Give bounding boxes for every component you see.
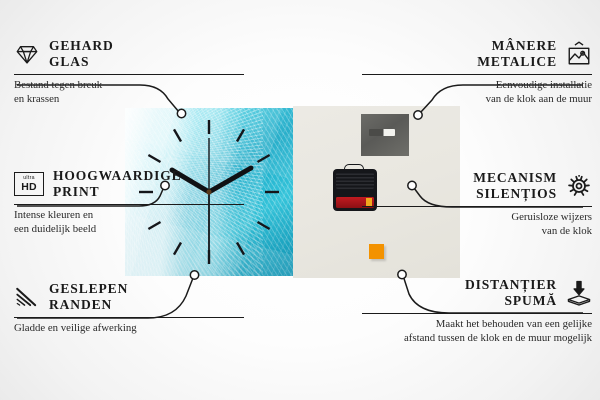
feature-desc: Bestand tegen breuk en krassen	[14, 79, 244, 107]
feature-desc: Geruisloze wijzers van de klok	[362, 211, 592, 239]
feature-title: HOOGWAARDIGE PRINT	[53, 168, 182, 201]
foam-spacer	[369, 244, 384, 259]
feature-desc: Gladde en veilige afwerking	[14, 322, 244, 336]
metal-hanger-plate	[361, 114, 409, 156]
feature-header: MECANISM SILENȚIOS	[362, 170, 592, 207]
ultra-hd-icon: ultra HD	[14, 172, 44, 196]
mechanism-bridge	[344, 164, 364, 171]
feature-gehard-glas: GEHARD GLAS Bestand tegen breuk en krass…	[14, 38, 244, 107]
feature-distantier-spuma: DISTANȚIER SPUMĂ Maakt het behouden van …	[362, 277, 592, 346]
ultra-hd-icon-bottom: HD	[21, 182, 37, 193]
feature-header: GESLEPEN RANDEN	[14, 281, 244, 318]
foam-spacer-icon	[566, 280, 592, 306]
feature-title: DISTANȚIER SPUMĂ	[465, 277, 557, 310]
beveled-edges-icon	[14, 284, 40, 310]
feature-header: MÂNERE METALICE	[362, 38, 592, 75]
picture-hanger-icon	[566, 41, 592, 67]
feature-hoogwaardige-print: ultra HD HOOGWAARDIGE PRINT Intense kleu…	[14, 168, 244, 237]
hanger-slot	[369, 129, 395, 136]
infographic-stage: GEHARD GLAS Bestand tegen breuk en krass…	[0, 0, 600, 400]
feature-header: DISTANȚIER SPUMĂ	[362, 277, 592, 314]
gear-icon	[566, 173, 592, 199]
diamond-icon	[14, 41, 40, 67]
feature-desc: Intense kleuren en een duidelijk beeld	[14, 209, 244, 237]
feature-title: MÂNERE METALICE	[477, 38, 557, 71]
feature-manere-metalice: MÂNERE METALICE Eenvoudige installatie v…	[362, 38, 592, 107]
feature-header: GEHARD GLAS	[14, 38, 244, 75]
feature-desc: Eenvoudige installatie van de klok aan d…	[362, 79, 592, 107]
feature-title: GESLEPEN RANDEN	[49, 281, 128, 314]
feature-title: GEHARD GLAS	[49, 38, 114, 71]
feature-header: ultra HD HOOGWAARDIGE PRINT	[14, 168, 244, 205]
feature-geslepen-randen: GESLEPEN RANDEN Gladde en veilige afwerk…	[14, 281, 244, 336]
feature-mecanism-silentios: MECANISM SILENȚIOS Geruisloze wijzers va…	[362, 170, 592, 239]
feature-desc: Maakt het behouden van een gelijke afsta…	[362, 318, 592, 346]
feature-title: MECANISM SILENȚIOS	[473, 170, 557, 203]
